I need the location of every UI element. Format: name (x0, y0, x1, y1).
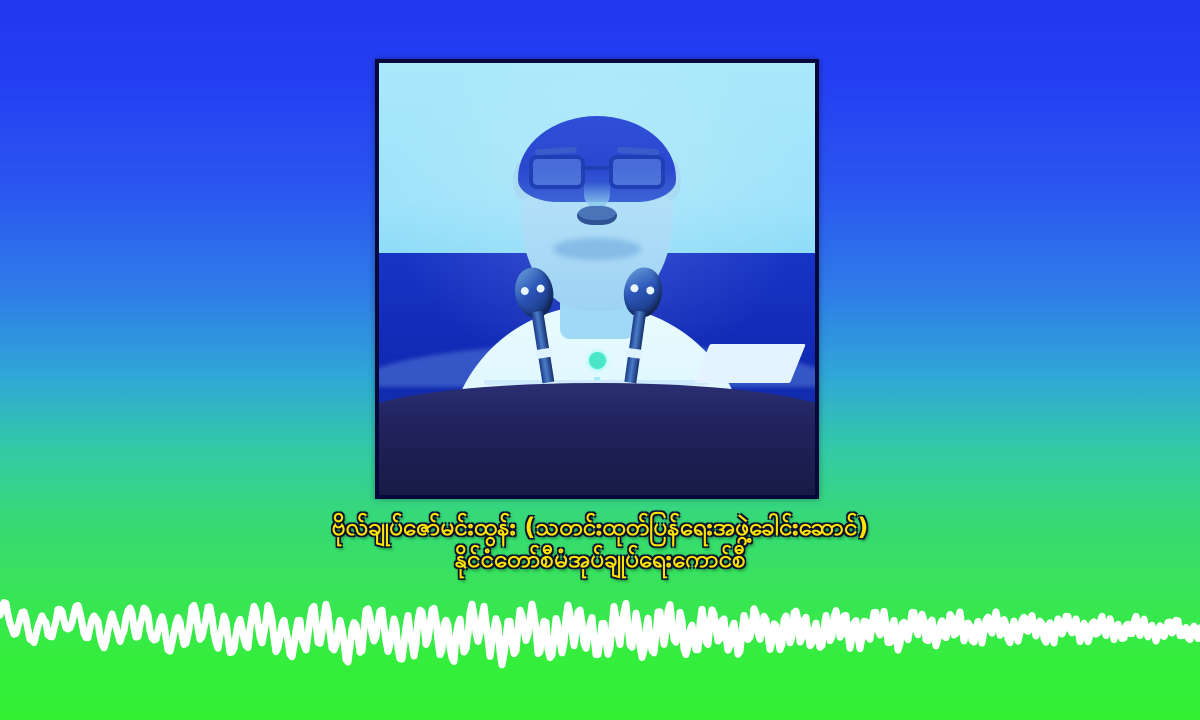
caption-block: ဗိုလ်ချုပ်ဇော်မင်းထွန်း (သတင်းထုတ်ပြန်ရေ… (0, 512, 1200, 575)
microphone-highlight-d (646, 286, 655, 295)
podium (375, 383, 819, 499)
eyeglass-lens-right (609, 155, 665, 189)
speaker-nose (584, 182, 610, 208)
speaker-mouth (577, 206, 617, 225)
caption-line-name-and-role: ဗိုလ်ချုပ်ဇော်မင်းထွန်း (သတင်းထုတ်ပြန်ရေ… (0, 512, 1200, 544)
eyeglass-bridge (585, 166, 609, 170)
speaker-figure (379, 63, 815, 495)
microphone-highlight-c (630, 284, 639, 293)
eyeglass-lens-left (529, 155, 585, 189)
caption-line-organisation: နိုင်ငံတော်စီမံအုပ်ချုပ်ရေးကောင်စီ (0, 544, 1200, 576)
microphone-highlight-a (520, 287, 529, 296)
audio-waveform (0, 580, 1200, 720)
podium-papers (694, 344, 806, 383)
speaker-photo-frame (375, 59, 819, 499)
speaker-chin-shadow (553, 238, 641, 260)
audio-waveform-line (0, 603, 1200, 665)
microphone-highlight-b (536, 284, 545, 293)
broadcast-screen: ဗိုလ်ချုပ်ဇော်မင်းထွန်း (သတင်းထုတ်ပြန်ရေ… (0, 0, 1200, 720)
